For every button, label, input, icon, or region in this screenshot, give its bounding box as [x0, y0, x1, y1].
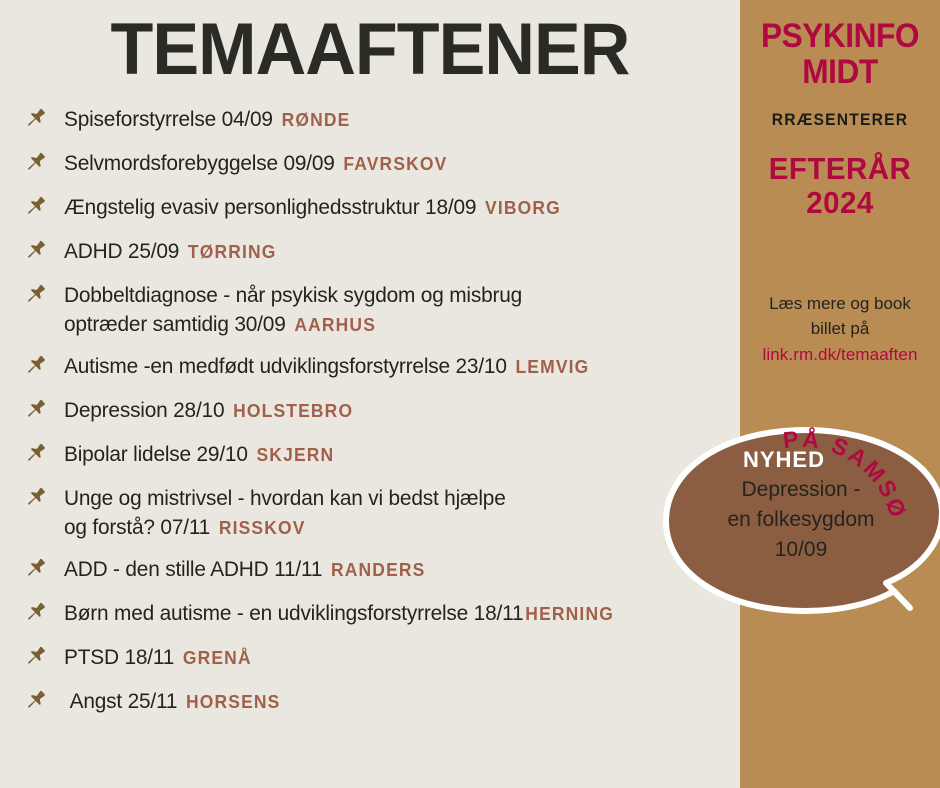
event-text: PTSD 18/11GRENÅ [64, 643, 725, 672]
pushpin-icon [26, 486, 52, 512]
pushpin-icon-wrap [26, 689, 52, 715]
event-title: Spiseforstyrrelse 04/09 [64, 107, 273, 131]
event-title: Børn med autisme - en udviklingsforstyrr… [64, 601, 523, 625]
event-title: ADD - den stille ADHD 11/11 [64, 557, 322, 581]
booking-link[interactable]: link.rm.dk/temaaften [740, 345, 940, 365]
event-item[interactable]: Selvmordsforebyggelse 09/09FAVRSKOV [0, 149, 745, 179]
sidebar: PSYKINFO MIDT RRÆSENTERER EFTERÅR 2024 L… [740, 0, 940, 788]
event-item[interactable]: Depression 28/10HOLSTEBRO [0, 396, 745, 426]
event-text: Ængstelig evasiv personlighedsstruktur 1… [64, 193, 725, 222]
event-title: Ængstelig evasiv personlighedsstruktur 1… [64, 195, 476, 219]
pushpin-icon-wrap [26, 486, 52, 512]
event-city: FAVRSKOV [343, 154, 447, 174]
pushpin-icon [26, 151, 52, 177]
event-item[interactable]: ADHD 25/09TØRRING [0, 237, 745, 267]
event-item[interactable]: Børn med autisme - en udviklingsforstyrr… [0, 599, 745, 629]
season-line-1: EFTERÅR [745, 152, 935, 186]
event-city: AARHUS [294, 315, 376, 335]
pushpin-icon [26, 689, 52, 715]
speech-bubble-shape [658, 425, 940, 650]
event-text: Autisme -en medfødt udviklingsforstyrrel… [64, 352, 725, 381]
pushpin-icon [26, 557, 52, 583]
event-item[interactable]: Ængstelig evasiv personlighedsstruktur 1… [0, 193, 745, 223]
pushpin-icon [26, 442, 52, 468]
event-city: HORSENS [186, 692, 280, 712]
pushpin-icon [26, 107, 52, 133]
event-title: Angst 25/11 [64, 689, 177, 713]
event-item[interactable]: Spiseforstyrrelse 04/09RØNDE [0, 105, 745, 135]
event-item[interactable]: PTSD 18/11GRENÅ [0, 643, 745, 673]
event-item[interactable]: ADD - den stille ADHD 11/11RANDERS [0, 555, 745, 585]
pushpin-icon-wrap [26, 107, 52, 133]
presents-label: RRÆSENTERER [748, 110, 932, 130]
pushpin-icon-wrap [26, 645, 52, 671]
event-item[interactable]: Autisme -en medfødt udviklingsforstyrrel… [0, 352, 745, 382]
event-text: Spiseforstyrrelse 04/09RØNDE [64, 105, 725, 134]
event-title: Bipolar lidelse 29/10 [64, 442, 248, 466]
event-text: Børn med autisme - en udviklingsforstyrr… [64, 599, 725, 628]
event-item[interactable]: Bipolar lidelse 29/10SKJERN [0, 440, 745, 470]
event-title: Autisme -en medfødt udviklingsforstyrrel… [64, 354, 507, 378]
event-title: PTSD 18/11 [64, 645, 174, 669]
event-city: SKJERN [256, 445, 334, 465]
event-city: LEMVIG [515, 357, 589, 377]
brand-name: PSYKINFO MIDT [747, 18, 933, 90]
event-text: Dobbeltdiagnose - når psykisk sygdom og … [64, 281, 725, 338]
event-text: Unge og mistrivsel - hvordan kan vi beds… [64, 484, 725, 541]
event-text: Selvmordsforebyggelse 09/09FAVRSKOV [64, 149, 725, 178]
season-line-2: 2024 [745, 186, 935, 220]
event-city: TØRRING [188, 242, 277, 262]
pushpin-icon [26, 398, 52, 424]
booking-info-line-2: billet på [752, 317, 928, 342]
news-speech-bubble: NYHED Depression - en folkesygdom 10/09 … [658, 425, 940, 650]
event-city: HERNING [525, 604, 614, 624]
event-text: Bipolar lidelse 29/10SKJERN [64, 440, 725, 469]
event-item[interactable]: Dobbeltdiagnose - når psykisk sygdom og … [0, 281, 745, 338]
pushpin-icon [26, 239, 52, 265]
pushpin-icon [26, 645, 52, 671]
pushpin-icon-wrap [26, 601, 52, 627]
pushpin-icon-wrap [26, 239, 52, 265]
booking-info-line-1: Læs mere og book [752, 292, 928, 317]
pushpin-icon-wrap [26, 442, 52, 468]
event-text: ADD - den stille ADHD 11/11RANDERS [64, 555, 725, 584]
event-city: HOLSTEBRO [233, 401, 353, 421]
event-title: Depression 28/10 [64, 398, 224, 422]
poster-canvas: TEMAAFTENER Spiseforstyrrelse 04/09RØNDE… [0, 0, 940, 788]
event-list: Spiseforstyrrelse 04/09RØNDESelvmordsfor… [0, 105, 745, 731]
pushpin-icon [26, 283, 52, 309]
page-title: TEMAAFTENER [15, 8, 725, 91]
pushpin-icon [26, 601, 52, 627]
event-item[interactable]: Angst 25/11HORSENS [0, 687, 745, 717]
booking-info: Læs mere og book billet på [740, 292, 940, 341]
pushpin-icon-wrap [26, 354, 52, 380]
pushpin-icon-wrap [26, 195, 52, 221]
season-heading: EFTERÅR 2024 [745, 152, 935, 220]
event-title: Selvmordsforebyggelse 09/09 [64, 151, 335, 175]
brand-line-1: PSYKINFO [747, 18, 933, 54]
pushpin-icon [26, 195, 52, 221]
pushpin-icon-wrap [26, 151, 52, 177]
event-city: RISSKOV [219, 518, 306, 538]
pushpin-icon-wrap [26, 283, 52, 309]
event-city: GRENÅ [183, 648, 252, 668]
event-text: ADHD 25/09TØRRING [64, 237, 725, 266]
brand-line-2: MIDT [747, 54, 933, 90]
event-city: RØNDE [282, 110, 351, 130]
pushpin-icon-wrap [26, 557, 52, 583]
pushpin-icon-wrap [26, 398, 52, 424]
pushpin-icon [26, 354, 52, 380]
event-title: ADHD 25/09 [64, 239, 179, 263]
event-city: VIBORG [485, 198, 561, 218]
event-text: Depression 28/10HOLSTEBRO [64, 396, 725, 425]
event-text: Angst 25/11HORSENS [64, 687, 725, 716]
event-city: RANDERS [331, 560, 425, 580]
event-item[interactable]: Unge og mistrivsel - hvordan kan vi beds… [0, 484, 745, 541]
